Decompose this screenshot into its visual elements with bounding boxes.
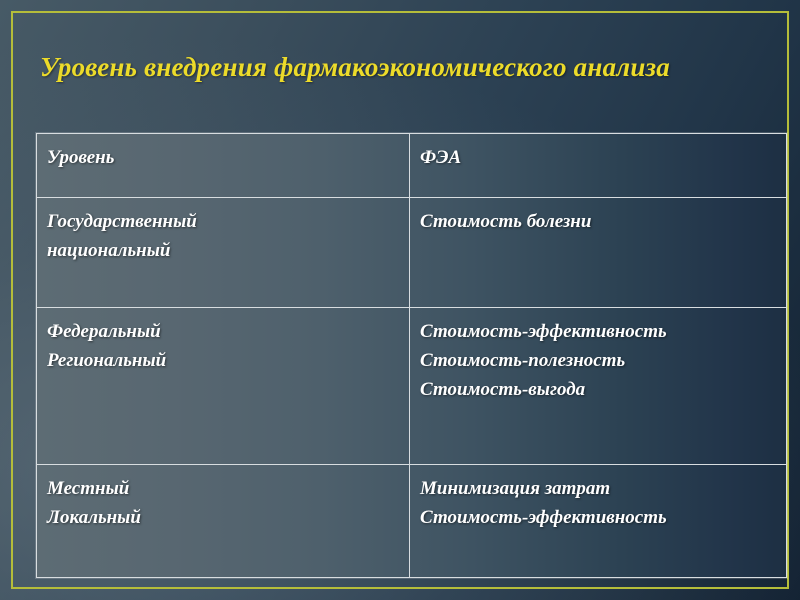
page-title: Уровень внедрения фармакоэкономического …: [40, 47, 740, 88]
cell-level-federal-regional: Федеральный Региональный: [37, 308, 410, 465]
presentation-slide: Уровень внедрения фармакоэкономического …: [0, 0, 800, 600]
cell-fea-cost-effectiveness-utility-benefit: Стоимость-эффективность Стоимость-полезн…: [410, 308, 787, 465]
cell-level-local: Местный Локальный: [37, 465, 410, 578]
pharmacoeconomics-levels-table: Уровень ФЭА Государственный национальный…: [36, 133, 787, 578]
column-header-level: Уровень: [37, 134, 410, 198]
table-row: Федеральный Региональный Стоимость-эффек…: [37, 308, 787, 465]
table-row: Местный Локальный Минимизация затрат Сто…: [37, 465, 787, 578]
column-header-fea: ФЭА: [410, 134, 787, 198]
cell-fea-cost-minimization: Минимизация затрат Стоимость-эффективнос…: [410, 465, 787, 578]
cell-level-state-national: Государственный национальный: [37, 198, 410, 308]
cell-fea-cost-of-illness: Стоимость болезни: [410, 198, 787, 308]
table-row: Государственный национальный Стоимость б…: [37, 198, 787, 308]
table-header-row: Уровень ФЭА: [37, 134, 787, 198]
